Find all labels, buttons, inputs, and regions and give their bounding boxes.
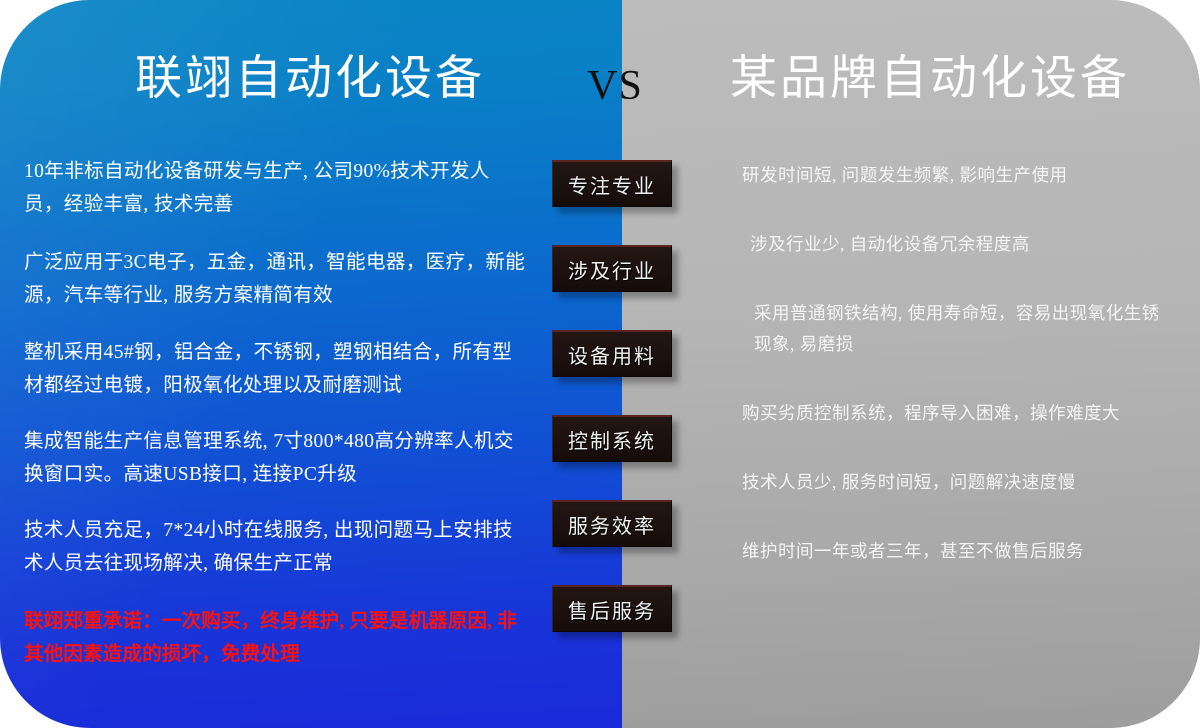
page-title-right: 某品牌自动化设备	[680, 52, 1180, 106]
category-badge: 售后服务	[552, 585, 672, 632]
category-badge: 专注专业	[552, 160, 672, 207]
list-item-guarantee: 联翊郑重承诺：一次购买，终身维护, 只要是机器原因, 非其他因素造成的损坏，免费…	[24, 605, 529, 671]
list-item: 技术人员少, 服务时间短，问题解决速度慢	[742, 467, 1174, 498]
page-title-left: 联翊自动化设备	[30, 52, 590, 106]
comparison-poster: 联翊自动化设备 VS 某品牌自动化设备 10年非标自动化设备研发与生产, 公司9…	[0, 0, 1200, 728]
category-badge-label: 专注专业	[568, 170, 656, 199]
category-badge: 服务效率	[552, 500, 672, 547]
category-badge-label: 控制系统	[568, 425, 656, 454]
category-badge: 控制系统	[552, 415, 672, 462]
category-badge-label: 售后服务	[568, 595, 656, 624]
list-item: 涉及行业少, 自动化设备冗余程度高	[742, 229, 1174, 260]
list-item: 采用普通钢铁结构, 使用寿命短，容易出现氧化生锈现象, 易磨损	[742, 298, 1174, 360]
vs-separator-label: VS	[565, 62, 665, 110]
list-item: 广泛应用于3C电子，五金，通讯，智能电器，医疗，新能源，汽车等行业, 服务方案精…	[24, 246, 529, 312]
category-badge-label: 设备用料	[568, 340, 656, 369]
list-item: 技术人员充足，7*24小时在线服务, 出现问题马上安排技术人员去往现场解决, 确…	[24, 514, 529, 580]
list-item: 整机采用45#钢，铝合金，不锈钢，塑钢相结合，所有型材都经过电镀，阳极氧化处理以…	[24, 336, 529, 402]
category-badge-column: 专注专业 涉及行业 设备用料 控制系统 服务效率 售后服务	[552, 160, 692, 670]
list-item: 10年非标自动化设备研发与生产, 公司90%技术开发人员，经验丰富, 技术完善	[24, 155, 529, 221]
list-item: 维护时间一年或者三年，甚至不做售后服务	[742, 536, 1174, 567]
category-badge: 设备用料	[552, 330, 672, 377]
category-badge: 涉及行业	[552, 245, 672, 292]
right-drawbacks-list: 研发时间短, 问题发生频繁, 影响生产使用 涉及行业少, 自动化设备冗余程度高 …	[742, 160, 1174, 605]
list-item: 研发时间短, 问题发生频繁, 影响生产使用	[742, 160, 1174, 191]
list-item: 集成智能生产信息管理系统, 7寸800*480高分辨率人机交换窗口实。高速USB…	[24, 425, 529, 491]
category-badge-label: 涉及行业	[568, 255, 656, 284]
left-advantages-list: 10年非标自动化设备研发与生产, 公司90%技术开发人员，经验丰富, 技术完善 …	[24, 155, 529, 696]
category-badge-label: 服务效率	[568, 510, 656, 539]
list-item: 购买劣质控制系统，程序导入困难，操作难度大	[742, 398, 1174, 429]
